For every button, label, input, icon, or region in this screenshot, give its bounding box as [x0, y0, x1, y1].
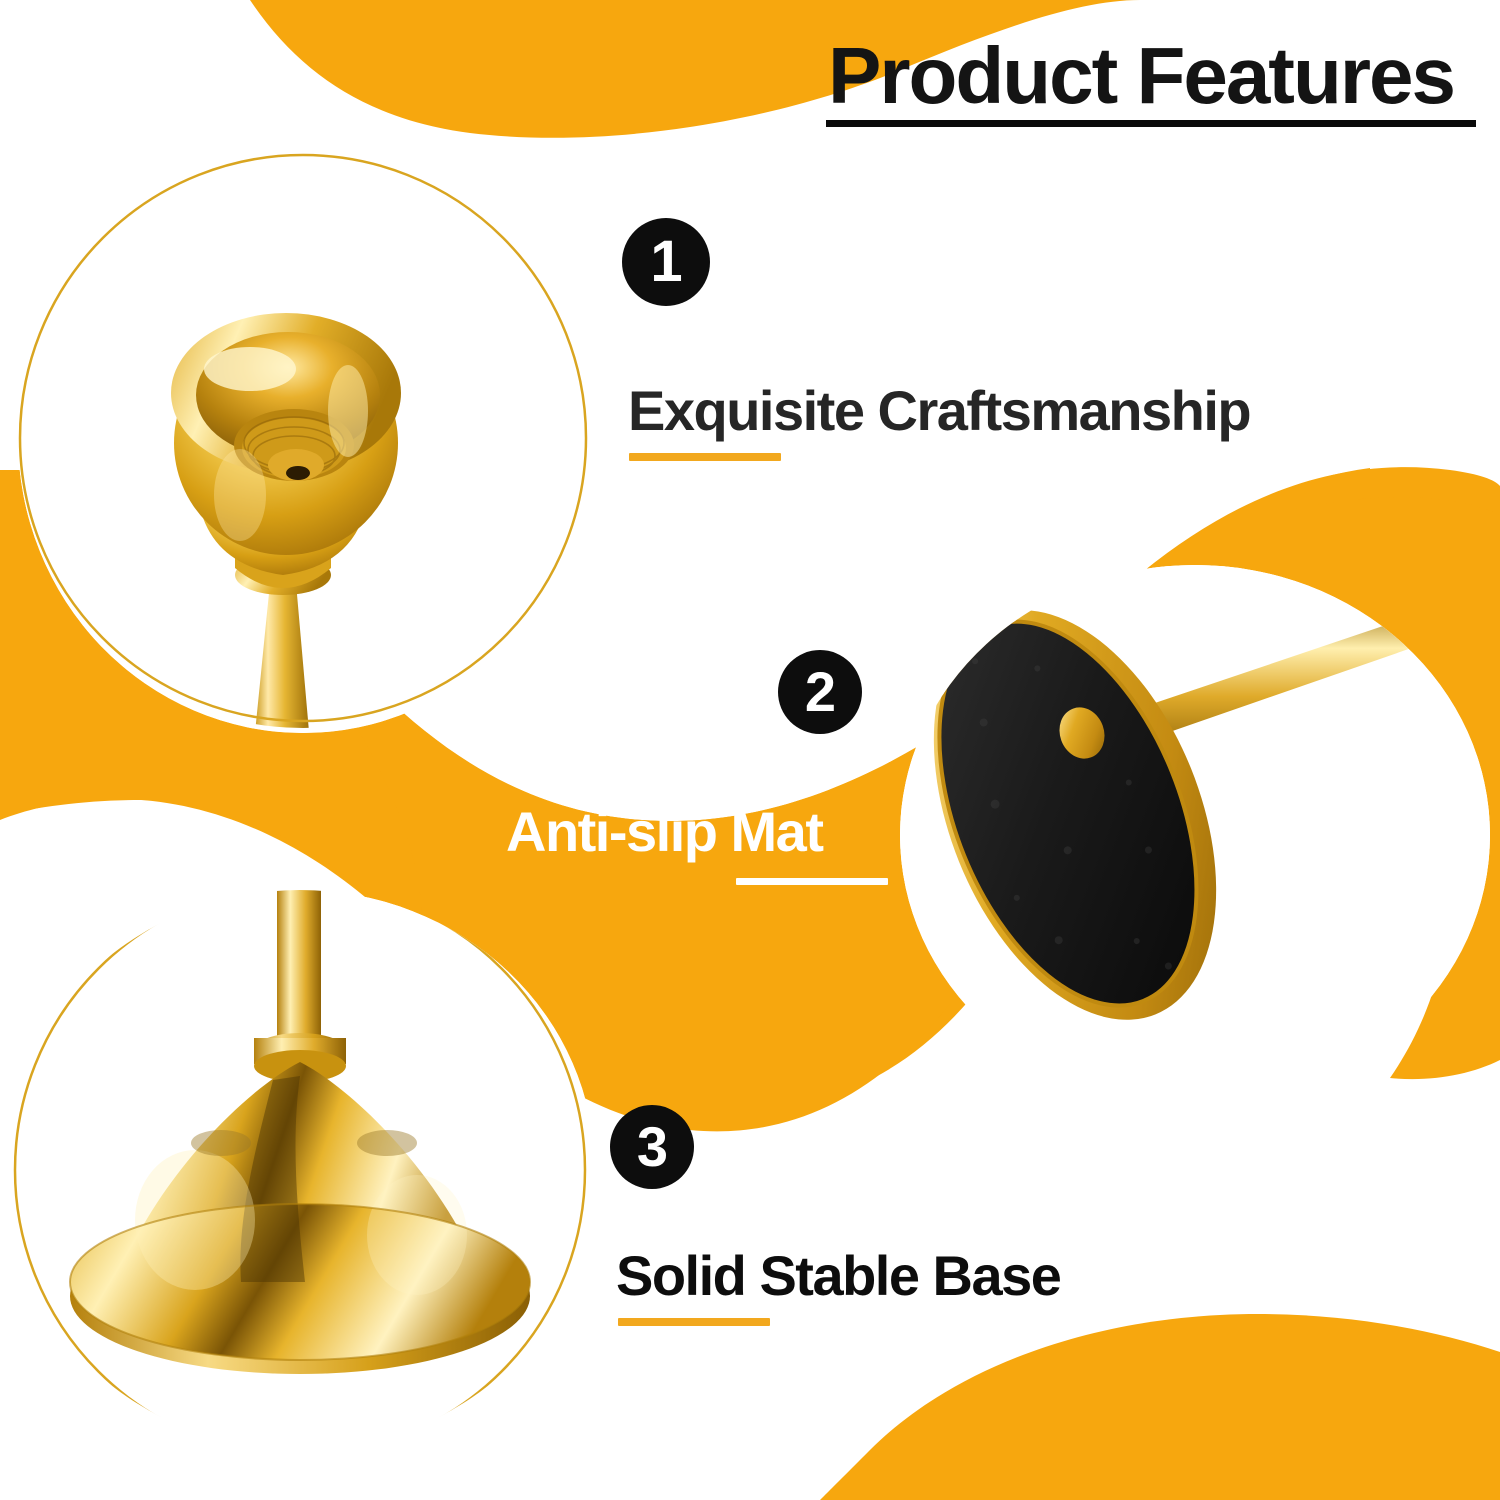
feature-badge-3: 3	[610, 1105, 694, 1189]
feature-badge-1-number: 1	[650, 233, 681, 291]
photo-exquisite-craftsmanship	[18, 143, 588, 733]
photo-anti-slip-mat	[900, 565, 1490, 1105]
feature-underline-2	[736, 878, 888, 885]
bottom-right-orange-blob	[820, 1314, 1500, 1500]
photo-1-artwork	[18, 143, 588, 733]
feature-badge-1: 1	[622, 218, 710, 306]
product-features-infographic: Product Features 1 Exquisite Craftsmansh…	[0, 0, 1500, 1500]
feature-title-3: Solid Stable Base	[616, 1248, 1060, 1304]
feature-underline-3	[618, 1318, 770, 1326]
feature-underline-1	[629, 453, 781, 461]
feature-badge-2: 2	[778, 650, 862, 734]
feature-title-2: Anti-slip Mat	[506, 804, 822, 860]
photo-3-artwork	[5, 890, 595, 1450]
feature-badge-2-number: 2	[805, 664, 835, 720]
feature-badge-3-number: 3	[637, 1119, 667, 1175]
page-title-underline	[826, 120, 1476, 127]
feature-title-1: Exquisite Craftsmanship	[628, 383, 1250, 439]
page-title: Product Features	[828, 36, 1454, 116]
photo-solid-stable-base	[5, 890, 595, 1450]
photo-2-artwork	[900, 565, 1490, 1105]
